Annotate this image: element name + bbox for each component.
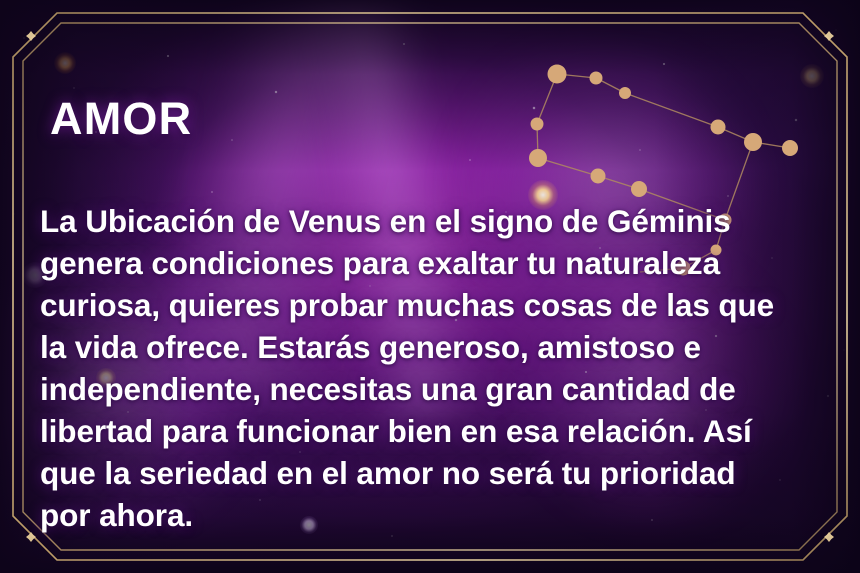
horoscope-card: AMOR La Ubicación de Venus en el signo d… [0,0,860,573]
body-line: libertad para funcionar bien en esa rela… [40,413,752,449]
body-line: independiente, necesitas una gran cantid… [40,371,736,407]
body-line: La Ubicación de Venus en el signo de Gém… [40,203,731,239]
horoscope-body-text: La Ubicación de Venus en el signo de Gém… [40,200,830,536]
card-content: AMOR La Ubicación de Venus en el signo d… [0,0,860,573]
body-line: que la seriedad en el amor no será tu pr… [40,455,736,491]
body-line: genera condiciones para exaltar tu natur… [40,245,720,281]
body-line: curiosa, quieres probar muchas cosas de … [40,287,774,323]
body-line: por ahora. [40,497,193,533]
page-title: AMOR [50,96,192,141]
body-line: la vida ofrece. Estarás generoso, amisto… [40,329,701,365]
